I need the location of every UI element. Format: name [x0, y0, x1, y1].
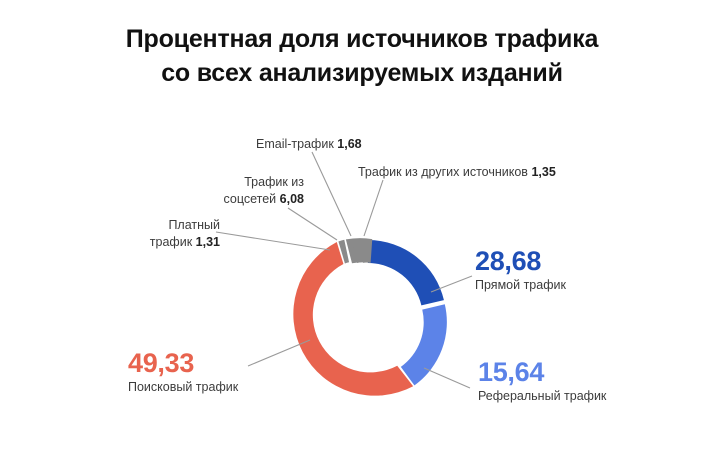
- callout-search: 49,33 Поисковый трафик: [128, 349, 238, 394]
- leader-line-paid: [216, 232, 330, 250]
- callout-paid: Платный трафик 1,31: [120, 217, 220, 250]
- callout-paid-label-line1: Платный: [120, 217, 220, 234]
- callout-social-value: 6,08: [280, 192, 304, 206]
- callout-direct-value: 28,68: [475, 247, 566, 275]
- callout-email: Email-трафик 1,68: [256, 136, 362, 153]
- leader-line-other: [364, 180, 383, 236]
- leader-line-social: [288, 208, 337, 240]
- callout-referral-value: 15,64: [478, 358, 606, 386]
- callout-paid-value: 1,31: [196, 235, 220, 249]
- slice-referral[interactable]: [401, 304, 447, 385]
- callout-search-value: 49,33: [128, 349, 238, 377]
- callout-email-label: Email-трафик: [256, 137, 334, 151]
- leader-line-search: [248, 340, 310, 366]
- callout-referral: 15,64 Реферальный трафик: [478, 358, 606, 403]
- chart-canvas: Процентная доля источников трафика со вс…: [0, 0, 724, 464]
- donut-chart: [0, 0, 724, 464]
- callout-paid-label-line2: трафик: [150, 235, 192, 249]
- callout-email-value: 1,68: [337, 137, 361, 151]
- callout-social-label-line1: Трафик из: [190, 174, 304, 191]
- leader-line-email: [312, 152, 351, 236]
- callout-referral-label: Реферальный трафик: [478, 389, 606, 403]
- slice-direct[interactable]: [368, 240, 444, 305]
- leader-line-referral: [424, 368, 470, 388]
- callout-other-sources: Трафик из других источников 1,35: [358, 164, 556, 181]
- callout-direct: 28,68 Прямой трафик: [475, 247, 566, 292]
- callout-other-value: 1,35: [531, 165, 555, 179]
- callout-social-label-line2: соцсетей: [224, 192, 277, 206]
- callout-other-label: Трафик из других источников: [358, 165, 528, 179]
- callout-search-label: Поисковый трафик: [128, 380, 238, 394]
- callout-direct-label: Прямой трафик: [475, 278, 566, 292]
- callout-social: Трафик из соцсетей 6,08: [190, 174, 304, 207]
